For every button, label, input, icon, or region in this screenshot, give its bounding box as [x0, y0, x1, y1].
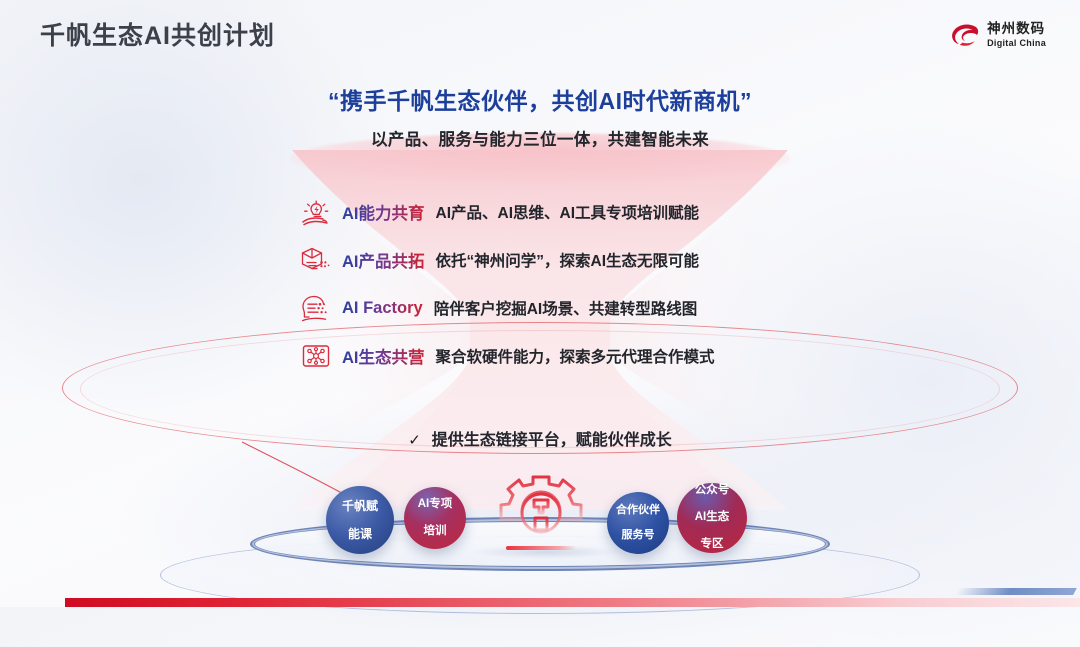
hero-subhead: 以产品、服务与能力三位一体，共建智能未来 [0, 126, 1080, 150]
feature-row[interactable]: AI Factory 陪伴客户挖掘AI场景、共建转型路线图 [296, 284, 916, 332]
brand-name-en: Digital China [987, 39, 1046, 48]
node-line: AI生态 [692, 511, 733, 525]
emblem-underline [506, 546, 576, 550]
checkmark-icon: ✓ [408, 431, 421, 449]
slide-canvas: 千帆生态AI共创计划 神州数码 Digital China “携手千帆生态伙伴，… [0, 0, 1080, 607]
node-line: 合作伙伴 [613, 504, 663, 517]
node-line: 专区 [692, 538, 733, 552]
node-line: 培训 [415, 525, 456, 539]
node-line: 千帆赋 [339, 499, 381, 513]
node-circle-3[interactable]: 合作伙伴服务号 [607, 492, 669, 554]
node-line: 能课 [339, 527, 381, 541]
lightbulb-on-hand-icon [296, 194, 336, 230]
slide-header: 千帆生态AI共创计划 神州数码 Digital China [0, 0, 1080, 66]
node-circle-4[interactable]: 公众号AI生态专区 [677, 483, 747, 553]
feature-row[interactable]: AI产品共拓 依托“神州问学”，探索AI生态无限可能 [296, 236, 916, 284]
node-line: 公众号 [692, 484, 733, 498]
feature-desc: 陪伴客户挖掘AI场景、共建转型路线图 [434, 297, 698, 319]
node-line: 服务号 [613, 529, 663, 542]
node-circle-1[interactable]: 千帆赋能课 [326, 486, 394, 554]
page-title: 千帆生态AI共创计划 [40, 16, 275, 52]
feature-label: AI能力共育 [342, 200, 425, 224]
node-line: AI专项 [415, 498, 456, 512]
feature-list: AI能力共育 AI产品、AI思维、AI工具专项培训赋能 [296, 188, 916, 380]
feature-desc: 依托“神州问学”，探索AI生态无限可能 [436, 249, 700, 271]
feature-desc: 聚合软硬件能力，探索多元代理合作模式 [436, 345, 715, 367]
brand-logo: 神州数码 Digital China [950, 20, 1046, 50]
feature-row[interactable]: AI生态共营 聚合软硬件能力，探索多元代理合作模式 [296, 332, 916, 380]
feature-label: AI生态共营 [342, 344, 425, 368]
feature-desc: AI产品、AI思维、AI工具专项培训赋能 [436, 201, 700, 223]
highlight-text: 提供生态链接平台，赋能伙伴成长 [432, 432, 672, 449]
gear-arch-emblem-icon [496, 470, 586, 546]
ai-head-profile-icon [296, 290, 336, 326]
feature-row[interactable]: AI能力共育 AI产品、AI思维、AI工具专项培训赋能 [296, 188, 916, 236]
hero-headline: “携手千帆生态伙伴，共创AI时代新商机” [0, 82, 1080, 116]
digital-china-swoosh-icon [950, 20, 980, 50]
footer-accent-bar-red [65, 598, 1080, 607]
product-cube-icon [296, 242, 336, 278]
feature-label: AI Factory [342, 299, 423, 318]
highlight-line: ✓提供生态链接平台，赋能伙伴成长 [0, 426, 1080, 450]
network-nodes-icon [296, 338, 336, 374]
node-circle-2[interactable]: AI专项培训 [404, 487, 466, 549]
footer-accent-bar-blue [955, 588, 1077, 595]
brand-name-cn: 神州数码 [987, 22, 1046, 36]
feature-label: AI产品共拓 [342, 248, 425, 272]
